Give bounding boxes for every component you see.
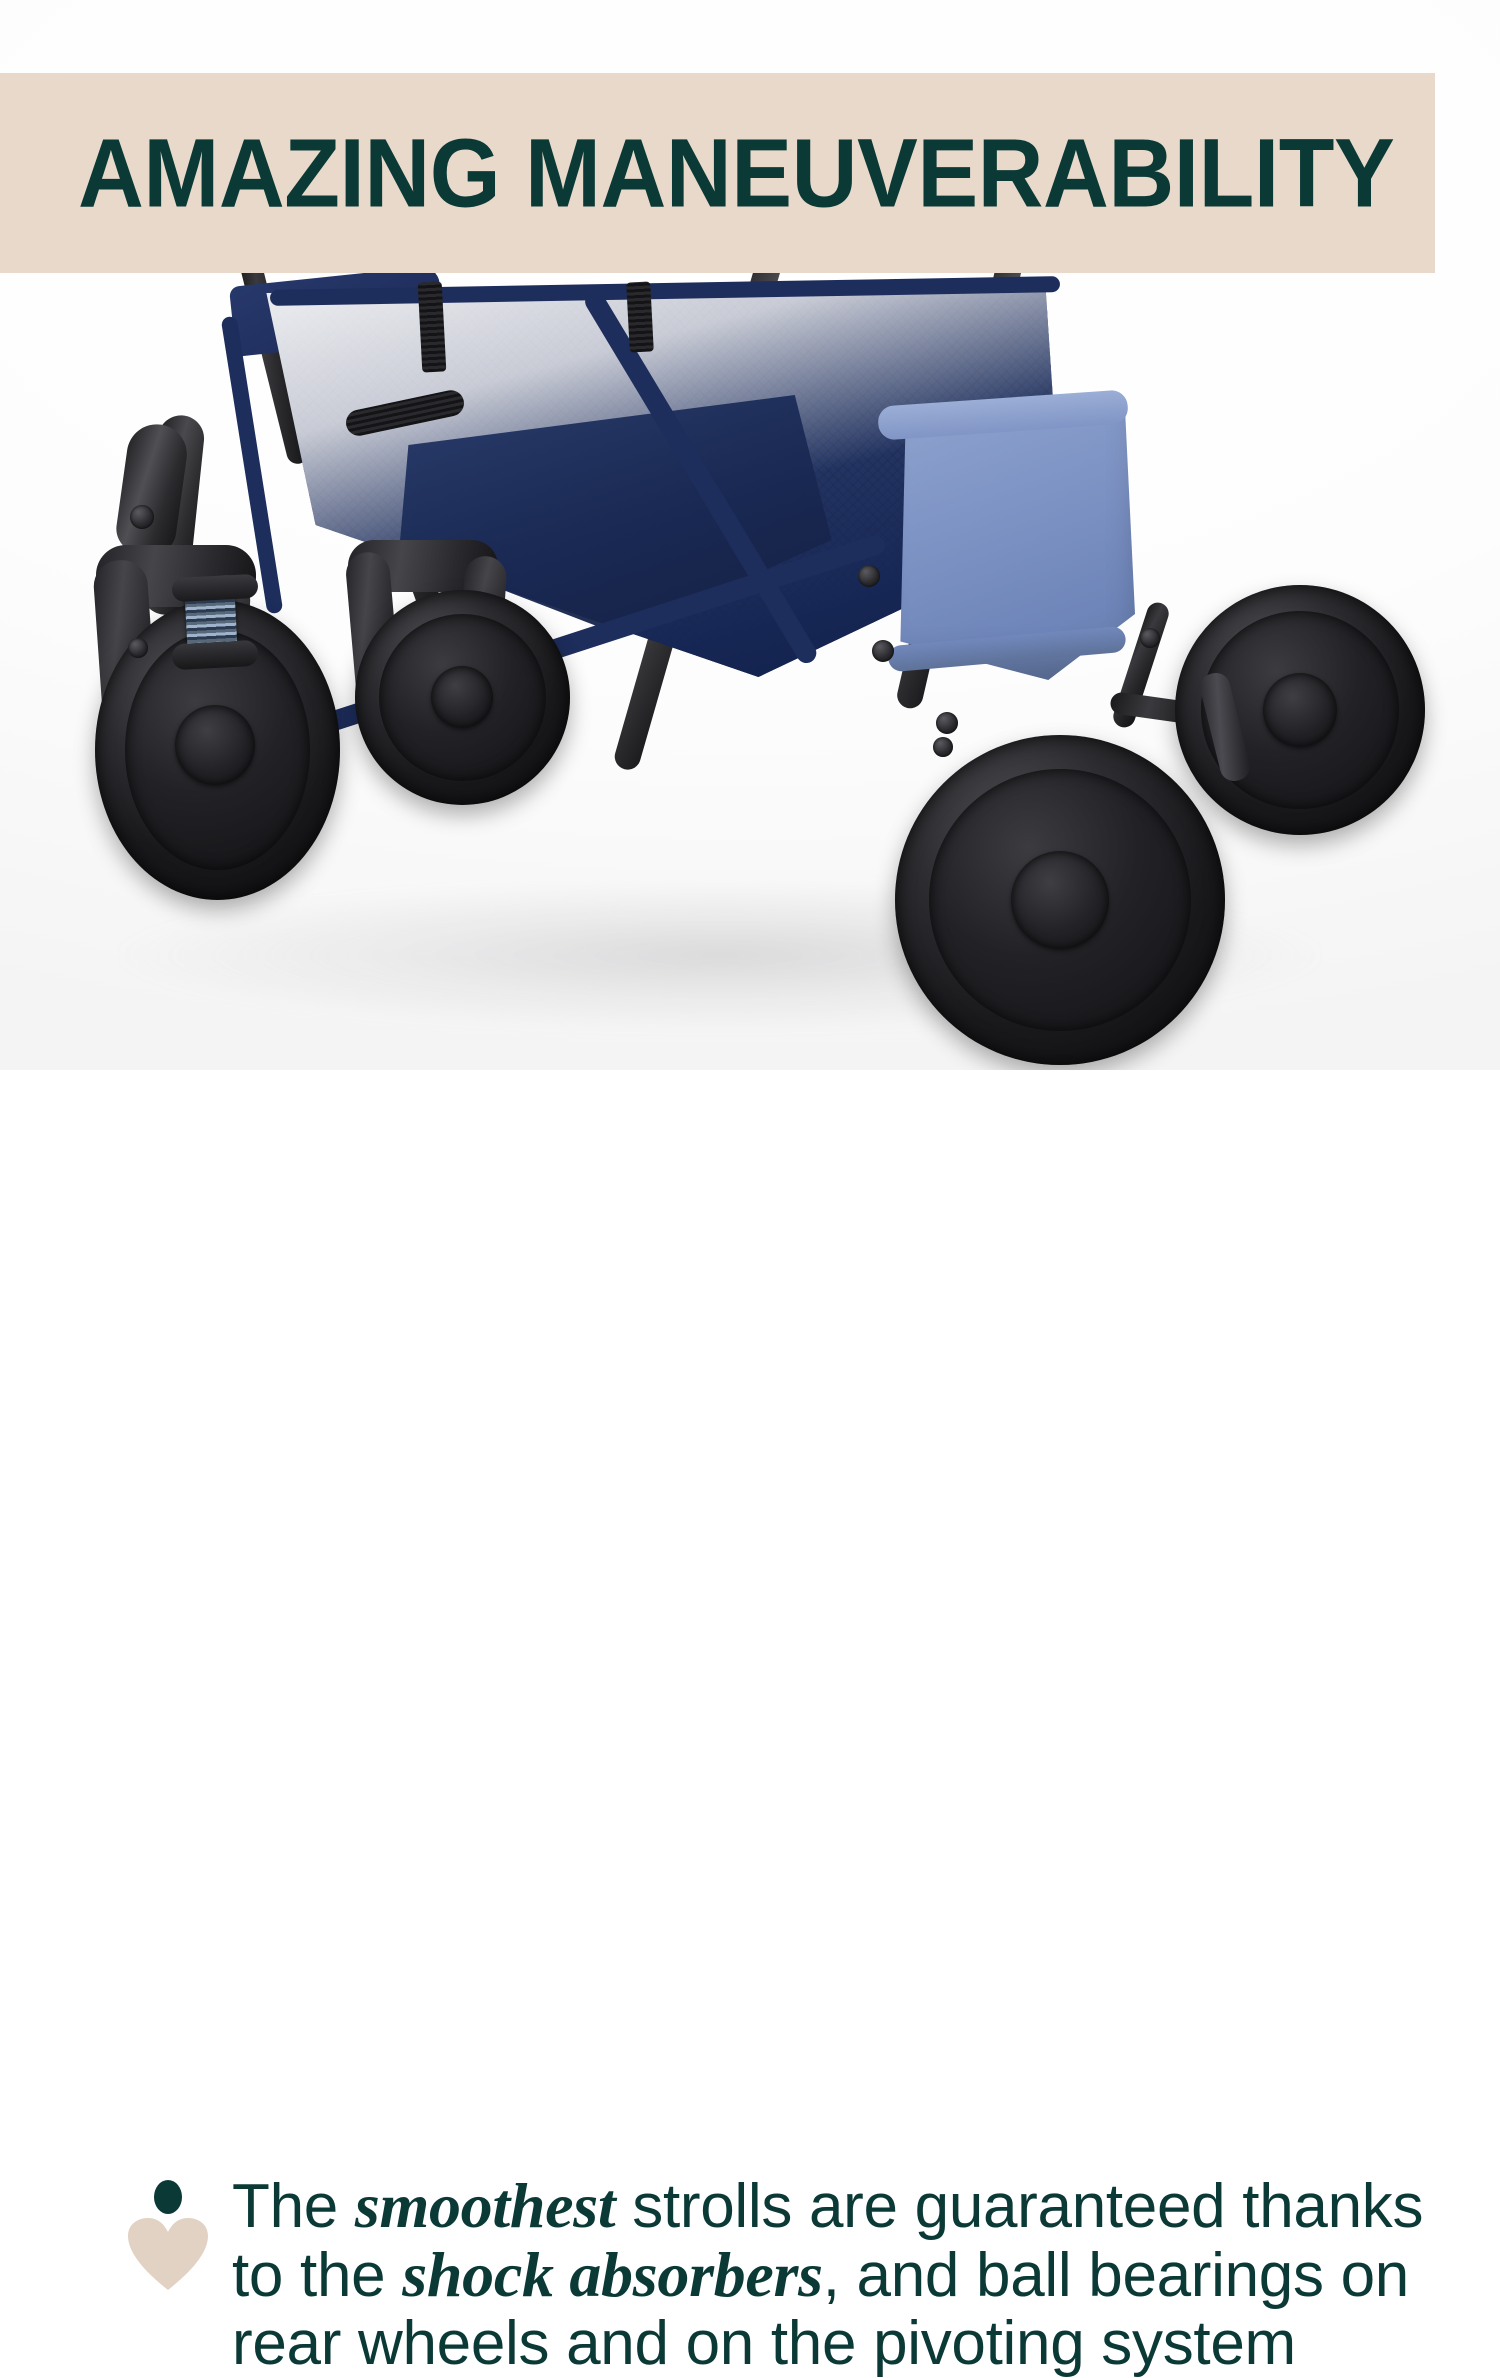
front-right-swivel-wheel (355, 590, 570, 805)
caption-plain: The (232, 2172, 355, 2241)
hub-cap (1011, 851, 1109, 949)
frame-bolt (936, 712, 958, 734)
header-banner: AMAZING MANEUVERABILITY (0, 73, 1435, 273)
caption-text: The smoothest strolls are guaranteed tha… (232, 2172, 1462, 2378)
heart-icon (128, 2218, 208, 2290)
frame-bolt (1140, 628, 1160, 648)
caption-block: The smoothest strolls are guaranteed tha… (0, 1080, 1500, 1500)
shock-absorber-bottom-cap (171, 640, 258, 670)
rear-main-wheel (895, 735, 1225, 1065)
frame-bolt (872, 640, 894, 662)
person-head-icon (154, 2180, 182, 2214)
shock-absorber-top-cap (171, 574, 258, 602)
hub-cap (175, 705, 255, 785)
frame-bolt (858, 565, 880, 587)
person-heart-icon (128, 2180, 208, 2280)
frame-bolt (933, 737, 953, 757)
caption-emphasis: shock absorbers (402, 2239, 822, 2310)
hub-cap (1263, 673, 1337, 747)
hub-cap (431, 666, 493, 728)
page-title: AMAZING MANEUVERABILITY (78, 125, 1394, 222)
caption-emphasis: smoothest (355, 2170, 615, 2241)
frame-bolt (128, 638, 148, 658)
velcro-strap (418, 281, 447, 372)
velcro-strap (626, 281, 654, 352)
frame-bolt (130, 505, 154, 529)
